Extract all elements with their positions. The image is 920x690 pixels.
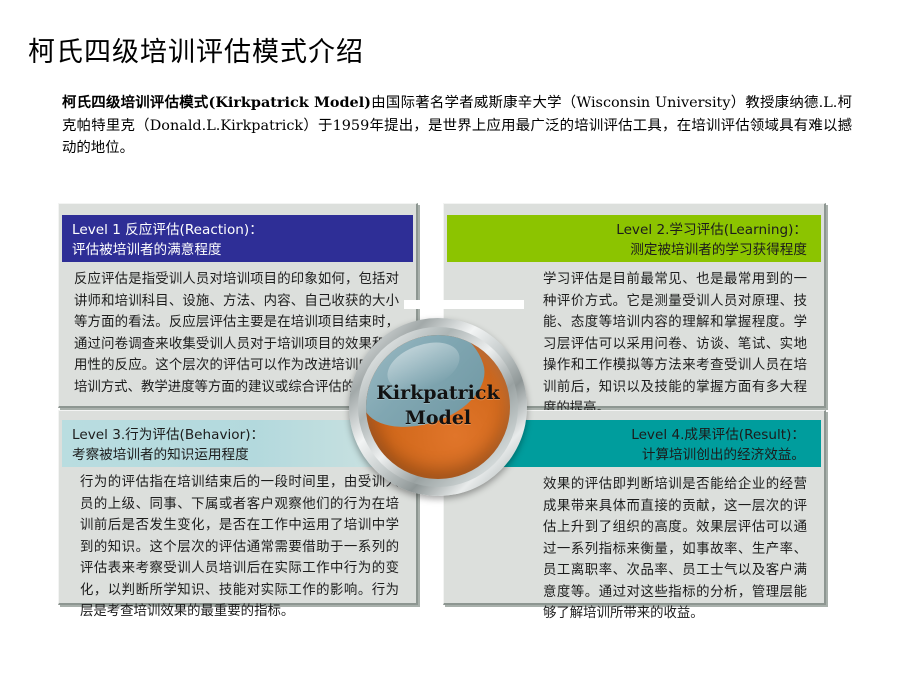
intro-paragraph: 柯氏四级培训评估模式(Kirkpatrick Model)由国际著名学者威斯康辛… <box>62 92 852 160</box>
kirkpatrick-model-sphere: Kirkpatrick Model <box>349 318 527 496</box>
panel-level-1-header: Level 1 反应评估(Reaction)： 评估被培训者的满意程度 <box>62 215 413 262</box>
panel-level-2-header: Level 2.学习评估(Learning)： 测定被培训者的学习获得程度 <box>447 215 821 262</box>
intro-lead-text: 柯氏四级培训评估模式(Kirkpatrick Model) <box>62 94 371 111</box>
connector-horizontal <box>404 300 524 309</box>
page-title: 柯氏四级培训评估模式介绍 <box>28 36 364 70</box>
sphere-label: Kirkpatrick Model <box>349 381 527 431</box>
